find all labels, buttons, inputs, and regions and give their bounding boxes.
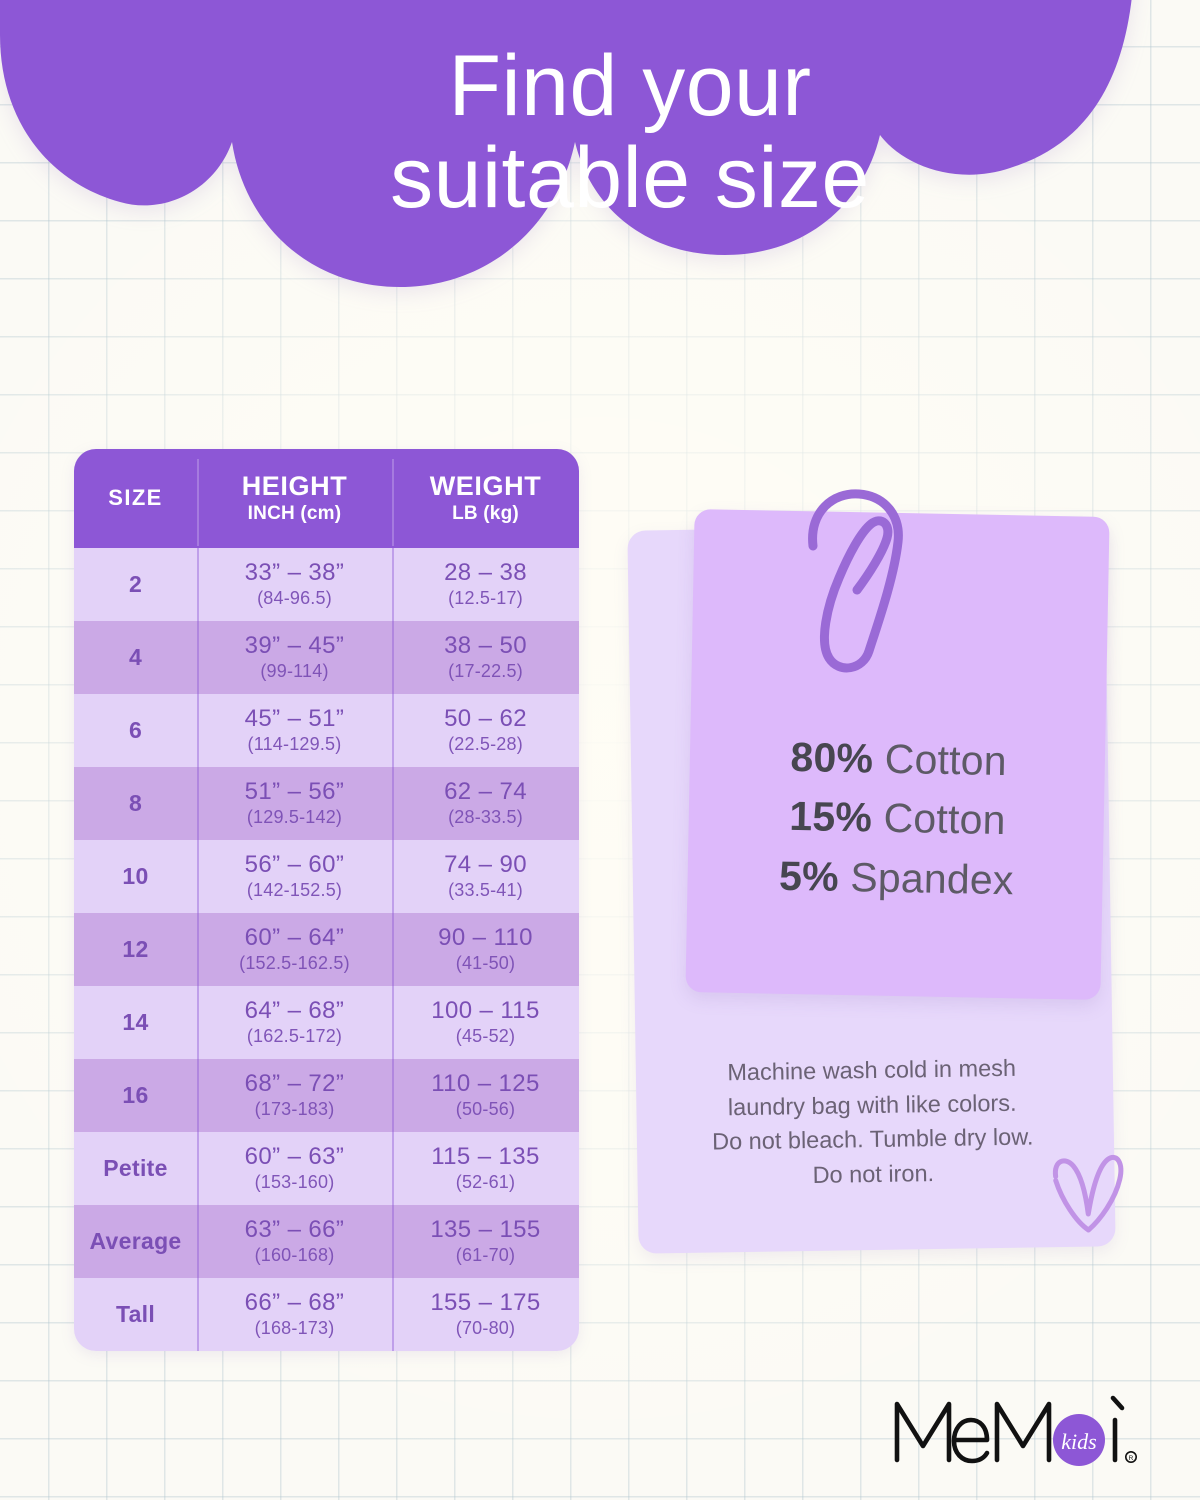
height-cm: (129.5-142) — [247, 807, 342, 829]
table-row: Average63” – 66”(160-168)135 – 155(61-70… — [74, 1205, 579, 1278]
weight-lb: 28 – 38 — [444, 560, 527, 587]
cell-weight: 100 – 115(45-52) — [392, 986, 579, 1059]
table-row: 1464” – 68”(162.5-172)100 – 115(45-52) — [74, 986, 579, 1059]
height-inches: 68” – 72” — [245, 1071, 345, 1098]
weight-kg: (70-80) — [456, 1318, 515, 1340]
column-header-weight-label: WEIGHT — [430, 471, 542, 501]
size-value: Petite — [103, 1155, 167, 1182]
size-value: Tall — [116, 1301, 155, 1328]
fabric-composition-list: 80% Cotton15% Cotton5% Spandex — [688, 726, 1106, 912]
heart-icon — [1047, 1151, 1126, 1244]
cell-weight: 155 – 175(70-80) — [392, 1278, 579, 1351]
height-cm: (162.5-172) — [247, 1026, 342, 1048]
weight-lb: 74 – 90 — [444, 852, 527, 879]
size-value: 8 — [129, 790, 142, 817]
cell-size: 16 — [74, 1059, 197, 1132]
cell-size: 10 — [74, 840, 197, 913]
height-inches: 60” – 63” — [245, 1144, 345, 1171]
cell-weight: 110 – 125(50-56) — [392, 1059, 579, 1132]
size-value: 4 — [129, 644, 142, 671]
height-inches: 51” – 56” — [245, 779, 345, 806]
cell-weight: 74 – 90(33.5-41) — [392, 840, 579, 913]
fabric-percentage: 80% — [790, 734, 874, 782]
height-cm: (99-114) — [260, 661, 328, 683]
table-row: Tall66” – 68”(168-173)155 – 175(70-80) — [74, 1278, 579, 1351]
cell-size: Tall — [74, 1278, 197, 1351]
cell-weight: 90 – 110(41-50) — [392, 913, 579, 986]
cell-height: 39” – 45”(99-114) — [197, 621, 392, 694]
paperclip-icon — [795, 486, 915, 676]
weight-kg: (41-50) — [456, 953, 515, 975]
cell-weight: 28 – 38(12.5-17) — [392, 548, 579, 621]
size-value: 6 — [129, 717, 142, 744]
height-inches: 60” – 64” — [245, 925, 345, 952]
cell-size: 14 — [74, 986, 197, 1059]
cell-height: 51” – 56”(129.5-142) — [197, 767, 392, 840]
table-row: 233” – 38”(84-96.5)28 – 38(12.5-17) — [74, 548, 579, 621]
height-cm: (160-168) — [255, 1245, 335, 1267]
page-title: Find your suitable size — [120, 40, 1140, 224]
cell-size: 2 — [74, 548, 197, 621]
weight-kg: (22.5-28) — [448, 734, 523, 756]
weight-kg: (61-70) — [456, 1245, 515, 1267]
table-row: 1056” – 60”(142-152.5)74 – 90(33.5-41) — [74, 840, 579, 913]
cell-height: 68” – 72”(173-183) — [197, 1059, 392, 1132]
column-header-height-label: HEIGHT — [242, 471, 348, 501]
height-cm: (142-152.5) — [247, 880, 342, 902]
height-cm: (152.5-162.5) — [239, 953, 350, 975]
cell-height: 56” – 60”(142-152.5) — [197, 840, 392, 913]
cell-height: 60” – 63”(153-160) — [197, 1132, 392, 1205]
table-row: 645” – 51”(114-129.5)50 – 62(22.5-28) — [74, 694, 579, 767]
weight-kg: (28-33.5) — [448, 807, 523, 829]
height-cm: (173-183) — [255, 1099, 335, 1121]
weight-lb: 50 – 62 — [444, 706, 527, 733]
cell-size: 12 — [74, 913, 197, 986]
cell-height: 64” – 68”(162.5-172) — [197, 986, 392, 1059]
size-value: 12 — [122, 936, 148, 963]
care-instructions-text: Machine wash cold in mesh laundry bag wi… — [644, 1049, 1101, 1194]
height-cm: (153-160) — [255, 1172, 335, 1194]
table-row: 439” – 45”(99-114)38 – 50(17-22.5) — [74, 621, 579, 694]
height-inches: 33” – 38” — [245, 560, 345, 587]
cell-weight: 50 – 62(22.5-28) — [392, 694, 579, 767]
weight-kg: (12.5-17) — [448, 588, 523, 610]
fabric-percentage: 5% — [779, 853, 840, 900]
weight-kg: (17-22.5) — [448, 661, 523, 683]
fabric-line: 80% Cotton — [691, 726, 1107, 793]
fabric-percentage: 15% — [789, 793, 873, 841]
weight-kg: (50-56) — [456, 1099, 515, 1121]
table-row: Petite60” – 63”(153-160)115 – 135(52-61) — [74, 1132, 579, 1205]
cell-weight: 38 – 50(17-22.5) — [392, 621, 579, 694]
size-value: 14 — [122, 1009, 148, 1036]
weight-lb: 100 – 115 — [431, 998, 540, 1025]
weight-lb: 38 – 50 — [444, 633, 527, 660]
size-value: 16 — [122, 1082, 148, 1109]
weight-kg: (52-61) — [456, 1172, 515, 1194]
height-inches: 39” – 45” — [245, 633, 345, 660]
cell-weight: 62 – 74(28-33.5) — [392, 767, 579, 840]
column-header-height: HEIGHT INCH (cm) — [197, 449, 392, 548]
weight-kg: (33.5-41) — [448, 880, 523, 902]
table-row: 1260” – 64”(152.5-162.5)90 – 110(41-50) — [74, 913, 579, 986]
cell-weight: 115 – 135(52-61) — [392, 1132, 579, 1205]
kids-badge-text: kids — [1061, 1429, 1096, 1454]
size-chart-table: SIZE HEIGHT INCH (cm) WEIGHT LB (kg) 233… — [74, 449, 579, 1351]
fabric-material: Spandex — [838, 854, 1014, 903]
weight-lb: 62 – 74 — [444, 779, 527, 806]
fabric-line: 15% Cotton — [689, 785, 1105, 852]
height-inches: 63” – 66” — [245, 1217, 345, 1244]
fabric-material: Cotton — [873, 736, 1007, 785]
fabric-line: 5% Spandex — [688, 845, 1104, 912]
fabric-material: Cotton — [872, 795, 1006, 844]
weight-lb: 90 – 110 — [438, 925, 533, 952]
table-row: 851” – 56”(129.5-142)62 – 74(28-33.5) — [74, 767, 579, 840]
table-body: 233” – 38”(84-96.5)28 – 38(12.5-17)439” … — [74, 548, 579, 1351]
height-cm: (114-129.5) — [248, 734, 342, 756]
cell-size: 4 — [74, 621, 197, 694]
weight-lb: 135 – 155 — [430, 1217, 540, 1244]
cell-size: Average — [74, 1205, 197, 1278]
height-cm: (84-96.5) — [257, 588, 332, 610]
column-header-weight: WEIGHT LB (kg) — [392, 449, 579, 548]
cell-size: 8 — [74, 767, 197, 840]
weight-lb: 110 – 125 — [431, 1071, 540, 1098]
table-row: 1668” – 72”(173-183)110 – 125(50-56) — [74, 1059, 579, 1132]
height-cm: (168-173) — [255, 1318, 335, 1340]
weight-kg: (45-52) — [456, 1026, 515, 1048]
column-header-height-units: INCH (cm) — [248, 503, 342, 526]
height-inches: 66” – 68” — [245, 1290, 345, 1317]
cell-size: Petite — [74, 1132, 197, 1205]
cell-size: 6 — [74, 694, 197, 767]
weight-lb: 155 – 175 — [430, 1290, 540, 1317]
column-header-size: SIZE — [74, 449, 197, 548]
cell-height: 33” – 38”(84-96.5) — [197, 548, 392, 621]
size-value: 10 — [122, 863, 148, 890]
column-header-size-label: SIZE — [108, 486, 163, 511]
svg-text:R: R — [1129, 1455, 1134, 1462]
height-inches: 45” – 51” — [245, 706, 345, 733]
cell-weight: 135 – 155(61-70) — [392, 1205, 579, 1278]
cell-height: 63” – 66”(160-168) — [197, 1205, 392, 1278]
cell-height: 66” – 68”(168-173) — [197, 1278, 392, 1351]
height-inches: 64” – 68” — [245, 998, 345, 1025]
cell-height: 60” – 64”(152.5-162.5) — [197, 913, 392, 986]
size-value: Average — [89, 1228, 181, 1255]
size-value: 2 — [129, 571, 142, 598]
table-header-row: SIZE HEIGHT INCH (cm) WEIGHT LB (kg) — [74, 449, 579, 548]
cell-height: 45” – 51”(114-129.5) — [197, 694, 392, 767]
column-header-weight-units: LB (kg) — [452, 503, 519, 526]
weight-lb: 115 – 135 — [431, 1144, 540, 1171]
brand-logo: kids R — [893, 1390, 1138, 1468]
height-inches: 56” – 60” — [245, 852, 345, 879]
